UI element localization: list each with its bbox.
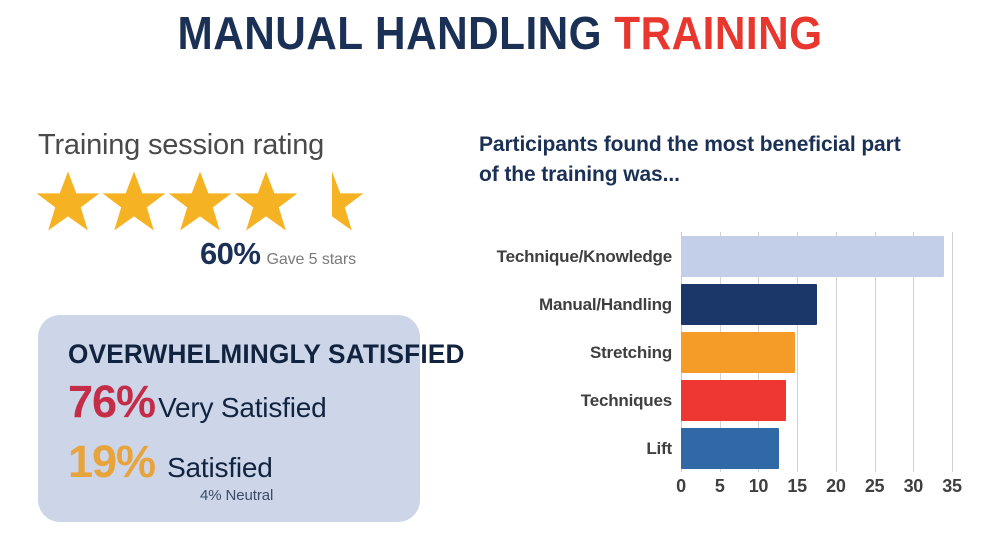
- x-axis-tick-label: 10: [749, 476, 768, 497]
- page-title: MANUAL HANDLING TRAINING: [40, 6, 960, 60]
- chart-bar: [681, 236, 944, 277]
- chart-bar-row: Lift: [681, 424, 952, 472]
- star-icon-full-1: [36, 170, 100, 232]
- x-axis-tick-label: 15: [787, 476, 806, 497]
- chart-heading-line1: Participants found the most beneficial p…: [479, 133, 901, 156]
- bar-category-label: Stretching: [590, 332, 672, 373]
- x-axis-tick-label: 5: [715, 476, 725, 497]
- satisfied-label: Satisfied: [167, 443, 273, 493]
- x-axis-tick-label: 0: [676, 476, 686, 497]
- very-satisfied-label: Very Satisfied: [158, 383, 326, 433]
- satisfaction-row-satisfied: 19% Satisfied: [68, 437, 394, 493]
- satisfied-percent: 19%: [68, 437, 155, 487]
- beneficial-part-bar-chart: Technique/KnowledgeManual/HandlingStretc…: [479, 232, 979, 507]
- page-title-accent: TRAINING: [614, 7, 822, 59]
- satisfaction-card-title: OVERWHELMINGLY SATISFIED: [68, 339, 384, 369]
- star-icon-full-3: [168, 170, 232, 232]
- very-satisfied-percent: 76%: [68, 377, 155, 427]
- bar-category-label: Technique/Knowledge: [497, 236, 672, 277]
- rating-heading: Training session rating: [38, 128, 436, 162]
- chart-bar: [681, 332, 795, 373]
- chart-plot-area: Technique/KnowledgeManual/HandlingStretc…: [681, 232, 952, 472]
- bar-category-label: Techniques: [581, 380, 672, 421]
- bar-category-label: Lift: [646, 428, 672, 469]
- chart-bar: [681, 428, 779, 469]
- x-axis-tick-label: 35: [942, 476, 961, 497]
- star-icon-half-5: [300, 170, 364, 232]
- chart-bar-row: Technique/Knowledge: [681, 232, 952, 280]
- chart-bar-row: Stretching: [681, 328, 952, 376]
- chart-bar-row: Manual/Handling: [681, 280, 952, 328]
- star-rating: [36, 168, 436, 234]
- chart-bar: [681, 380, 786, 421]
- chart-heading: Participants found the most beneficial p…: [479, 130, 979, 190]
- x-axis-tick-label: 20: [826, 476, 845, 497]
- chart-bar: [681, 284, 817, 325]
- page-title-main: MANUAL HANDLING: [177, 7, 602, 59]
- gave-five-stars-percent: 60%: [200, 236, 261, 272]
- satisfaction-row-very-satisfied: 76% Very Satisfied: [68, 377, 394, 433]
- star-icon-full-2: [102, 170, 166, 232]
- chart-bar-row: Techniques: [681, 376, 952, 424]
- gave-five-stars: 60% Gave 5 stars: [36, 236, 356, 272]
- chart-heading-line2: of the training was...: [479, 163, 680, 186]
- gave-five-stars-label: Gave 5 stars: [266, 251, 356, 269]
- star-icon-full-4: [234, 170, 298, 232]
- x-axis-tick-label: 30: [904, 476, 923, 497]
- neutral-footnote: 4% Neutral: [200, 487, 394, 504]
- chart-x-axis: 05101520253035: [681, 476, 952, 502]
- satisfaction-card: OVERWHELMINGLY SATISFIED 76% Very Satisf…: [38, 315, 420, 522]
- x-axis-tick-label: 25: [865, 476, 884, 497]
- rating-section: Training session rating 60% Gave 5 stars: [36, 128, 436, 272]
- chart-gridline: [952, 232, 953, 472]
- bar-category-label: Manual/Handling: [539, 284, 672, 325]
